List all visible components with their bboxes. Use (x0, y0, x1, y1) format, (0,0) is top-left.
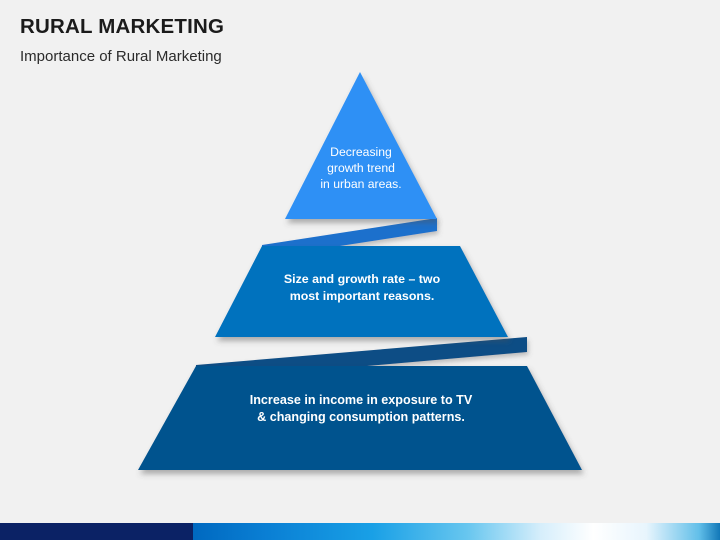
pyramid-level-bottom[interactable] (138, 366, 582, 470)
slide-canvas: RURAL MARKETING Importance of Rural Mark… (0, 0, 720, 540)
pyramid-svg (0, 0, 720, 500)
pyramid-level-middle[interactable] (215, 246, 508, 337)
footer-navy-block (0, 523, 193, 540)
pyramid-diagram: Decreasing growth trend in urban areas. … (0, 0, 720, 500)
footer-gradient-block (193, 523, 720, 540)
footer-bar (0, 523, 720, 540)
pyramid-level-top[interactable] (285, 72, 437, 219)
